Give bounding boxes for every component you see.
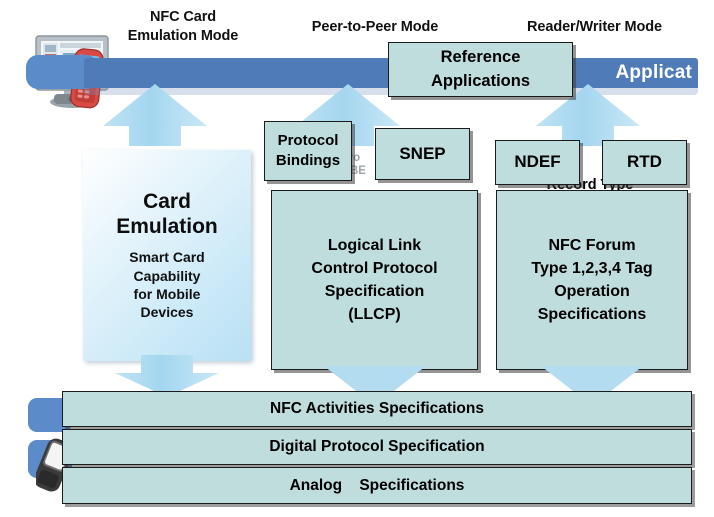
protocol-bindings-label: Protocol Bindings: [276, 131, 340, 172]
reference-applications-box: Reference Applications: [388, 42, 573, 97]
protocol-bindings-box: Protocol Bindings: [264, 121, 352, 181]
nfc-activities-specifications-label: NFC Activities Specifications: [270, 400, 484, 418]
analog-specifications-bar: Analog Specifications: [62, 467, 692, 504]
llcp-box: Logical Link Control Protocol Specificat…: [271, 190, 478, 370]
snep-label: SNEP: [399, 143, 445, 166]
ndef-box: NDEF: [495, 140, 580, 185]
rtd-label: RTD: [627, 151, 662, 174]
nfc-architecture-diagram: NFC Card Emulation Mode Peer-to-Peer Mod…: [0, 0, 714, 517]
ndef-label: NDEF: [514, 151, 560, 174]
snep-box: SNEP: [375, 128, 470, 180]
digital-protocol-specification-bar: Digital Protocol Specification: [62, 429, 692, 465]
applications-bar-label: Applicat: [615, 62, 698, 84]
llcp-label: Logical Link Control Protocol Specificat…: [311, 234, 437, 327]
rtd-box: RTD: [602, 140, 687, 185]
mode-label-card-emulation: NFC Card Emulation Mode: [118, 8, 248, 45]
reference-applications-label: Reference Applications: [431, 46, 530, 94]
tag-operation-label: NFC Forum Type 1,2,3,4 Tag Operation Spe…: [531, 234, 652, 327]
tag-operation-specifications-box: NFC Forum Type 1,2,3,4 Tag Operation Spe…: [496, 190, 688, 370]
card-emulation-title: Card Emulation: [116, 190, 218, 240]
card-emulation-box: Card Emulation Smart Card Capability for…: [83, 150, 251, 361]
card-emulation-subtitle: Smart Card Capability for Mobile Devices: [129, 248, 204, 321]
arrow-up-card-emulation: [94, 84, 216, 146]
mode-label-peer-to-peer: Peer-to-Peer Mode: [295, 18, 455, 37]
arrow-down-reader-writer: [541, 366, 643, 394]
analog-specifications-label: Analog Specifications: [290, 477, 465, 495]
mode-label-reader-writer: Reader/Writer Mode: [512, 18, 677, 37]
digital-protocol-specification-label: Digital Protocol Specification: [269, 438, 484, 456]
arrow-down-peer-to-peer: [324, 366, 426, 394]
nfc-activities-specifications-bar: NFC Activities Specifications: [62, 391, 692, 427]
